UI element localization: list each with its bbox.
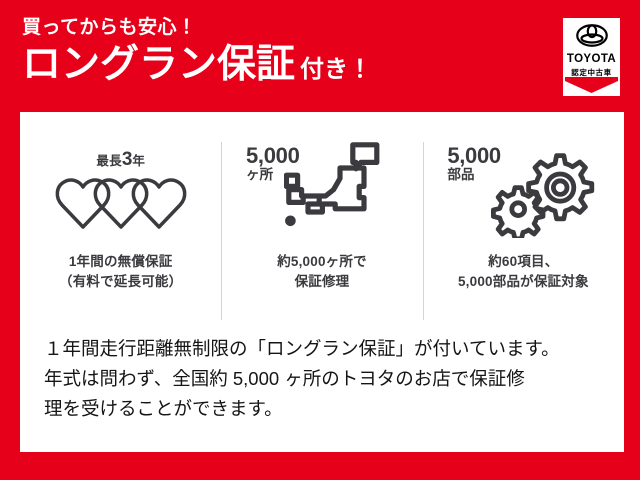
feature-covered-parts: 5,000 部品 [423,140,624,320]
toyota-wordmark: TOYOTA [567,54,616,66]
paragraph-line-2: 年式は問わず、全国約 5,000 ヶ所のトヨタのお店で保証修 [44,364,614,394]
paragraph-line-3: 理を受けることができます。 [44,394,614,424]
japan-glyph-wrap: 5,000 ヶ所 [221,140,422,252]
headline-suffix: 付き！ [295,56,372,83]
toyota-ellipse-icon [576,24,608,52]
gears-glyph-wrap: 5,000 部品 [423,140,624,252]
japan-badge-unit: ヶ所 [246,168,300,183]
banner-header: 買ってからも安心！ ロングラン保証付き！ TOYOTA [0,0,640,112]
gears-badge-unit: 部品 [447,168,501,183]
caption-line-1: 約5,000ヶ所で [277,252,367,272]
feature-columns: 最長3年 1年間の無償保証 （有料で延長可能） [20,140,624,320]
description-paragraph: １年間走行距離無制限の「ロングラン保証」が付いています。 年式は問わず、全国約 … [44,334,614,424]
caption-line-1: 1年間の無償保証 [59,252,182,272]
paragraph-line-1: １年間走行距離無制限の「ロングラン保証」が付いています。 [44,334,614,364]
feature-caption: 1年間の無償保証 （有料で延長可能） [59,252,182,291]
headline-main: ロングラン保証 [22,43,295,86]
hearts-glyph-wrap: 最長3年 [20,140,221,252]
gears-badge-number: 5,000 [447,144,501,168]
gears-icon [491,146,595,238]
header-kicker: 買ってからも安心！ [22,18,542,39]
toyota-certified-subtitle: 認定中古車 [571,69,612,77]
three-hearts-icon [54,173,188,231]
hearts-badge-number: 3 [122,149,133,170]
feature-caption: 約5,000ヶ所で 保証修理 [277,252,367,291]
longrun-warranty-banner: 買ってからも安心！ ロングラン保証付き！ TOYOTA [0,0,640,480]
header-headline: ロングラン保証付き！ [22,45,542,86]
hearts-badge-label: 最長3年 [96,150,145,169]
content-card: 最長3年 1年間の無償保証 （有料で延長可能） [20,112,624,452]
caption-line-2: （有料で延長可能） [59,272,182,292]
header-text-block: 買ってからも安心！ ロングラン保証付き！ [22,18,542,86]
hearts-badge-unit: 年 [132,154,145,168]
japan-badge-number: 5,000 [246,144,300,168]
toyota-certified-logo: TOYOTA 認定中古車 [563,18,620,96]
hearts-badge-prefix: 最長 [96,154,121,168]
feature-caption: 約60項目、 5,000部品が保証対象 [458,252,589,291]
caption-line-2: 5,000部品が保証対象 [458,272,589,292]
gears-badge-label: 5,000 部品 [447,144,501,182]
caption-line-2: 保証修理 [277,272,367,292]
feature-service-locations: 5,000 ヶ所 [221,140,422,320]
caption-line-1: 約60項目、 [458,252,589,272]
japan-badge-label: 5,000 ヶ所 [246,144,300,182]
feature-warranty-period: 最長3年 1年間の無償保証 （有料で延長可能） [20,140,221,320]
logo-chevron-shape [565,77,618,93]
